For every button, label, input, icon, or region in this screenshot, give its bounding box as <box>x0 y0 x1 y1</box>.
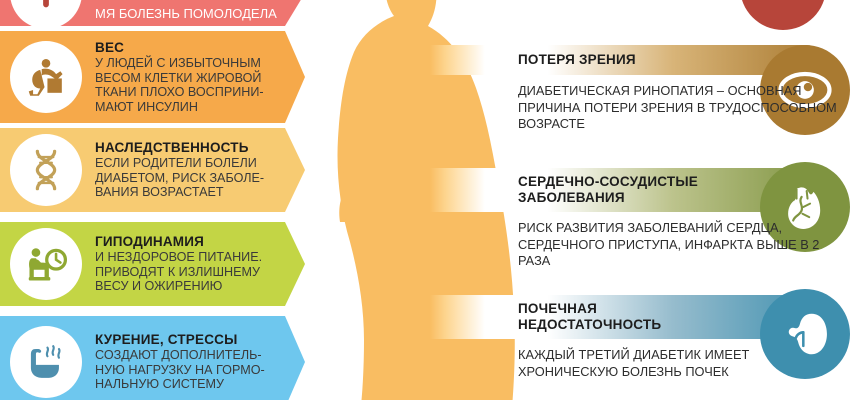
comp-cardiovascular-title: СЕРДЕЧНО-СОСУДИСТЫЕ ЗАБОЛЕВАНИЯ <box>518 174 733 205</box>
cause-weight-title: ВЕС <box>95 40 277 55</box>
cause-weight-body: У ЛЮДЕЙ С ИЗБЫТОЧНЫМ ВЕСОМ КЛЕТКИ ЖИРОВО… <box>95 56 277 114</box>
partial-red-circle <box>740 0 826 30</box>
comp-vision-loss-body: ДИАБЕТИЧЕСКАЯ РИНОПАТИЯ – ОСНОВНАЯ ПРИЧИ… <box>518 83 850 133</box>
comp-kidney-failure-body: КАЖДЫЙ ТРЕТИЙ ДИАБЕТИК ИМЕЕТ ХРОНИЧЕСКУЮ… <box>518 347 850 380</box>
comp-vision-loss-title: ПОТЕРЯ ЗРЕНИЯ <box>518 52 636 68</box>
cause-hypodynamia-title: ГИПОДИНАМИЯ <box>95 234 277 249</box>
cause-smoking-stress-body: СОЗДАЮТ ДОПОЛНИТЕЛЬ-НУЮ НАГРУЗКУ НА ГОРМ… <box>95 348 277 392</box>
infographic-root: ПОТЕРЯ ЗРЕНИЯ ДИАБЕТИЧЕСКАЯ РИНОПАТИЯ – … <box>0 0 850 400</box>
cause-smoking-stress[interactable]: КУРЕНИЕ, СТРЕССЫ СОЗДАЮТ ДОПОЛНИТЕЛЬ-НУЮ… <box>0 316 305 400</box>
dna-icon <box>10 134 82 206</box>
complications-column: ПОТЕРЯ ЗРЕНИЯ ДИАБЕТИЧЕСКАЯ РИНОПАТИЯ – … <box>430 0 850 400</box>
cause-hypodynamia[interactable]: ГИПОДИНАМИЯ И НЕЗДОРОВОЕ ПИТАНИЕ. ПРИВОД… <box>0 222 305 306</box>
cause-smoking-stress-title: КУРЕНИЕ, СТРЕССЫ <box>95 332 277 347</box>
sitting-person-clock-icon <box>10 228 82 300</box>
cause-heredity-title: НАСЛЕДСТВЕННОСТЬ <box>95 140 277 155</box>
cause-hypodynamia-body: И НЕЗДОРОВОЕ ПИТАНИЕ. ПРИВОДЯТ К ИЗЛИШНЕ… <box>95 250 277 294</box>
cause-heredity-body: ЕСЛИ РОДИТЕЛИ БОЛЕЛИ ДИАБЕТОМ, РИСК ЗАБО… <box>95 156 277 200</box>
comp-cardiovascular-body: РИСК РАЗВИТИЯ ЗАБОЛЕВАНИЙ СЕРДЦА, СЕРДЕЧ… <box>518 220 850 270</box>
overweight-person-icon <box>10 41 82 113</box>
cause-weight[interactable]: ВЕС У ЛЮДЕЙ С ИЗБЫТОЧНЫМ ВЕСОМ КЛЕТКИ ЖИ… <box>0 31 305 123</box>
causes-column: МЯ БОЛЕЗНЬ ПОМОЛОДЕЛА ВЕС У ЛЮДЕЙ С ИЗБЫ… <box>0 0 320 400</box>
cause-disease-younger[interactable]: МЯ БОЛЕЗНЬ ПОМОЛОДЕЛА <box>0 0 305 26</box>
cause-disease-younger-body: МЯ БОЛЕЗНЬ ПОМОЛОДЕЛА <box>95 7 277 22</box>
cause-heredity[interactable]: НАСЛЕДСТВЕННОСТЬ ЕСЛИ РОДИТЕЛИ БОЛЕЛИ ДИ… <box>0 128 305 212</box>
comp-kidney-failure-title: ПОЧЕЧНАЯ НЕДОСТАТОЧНОСТЬ <box>518 301 668 332</box>
smoking-pipe-icon <box>10 326 82 398</box>
